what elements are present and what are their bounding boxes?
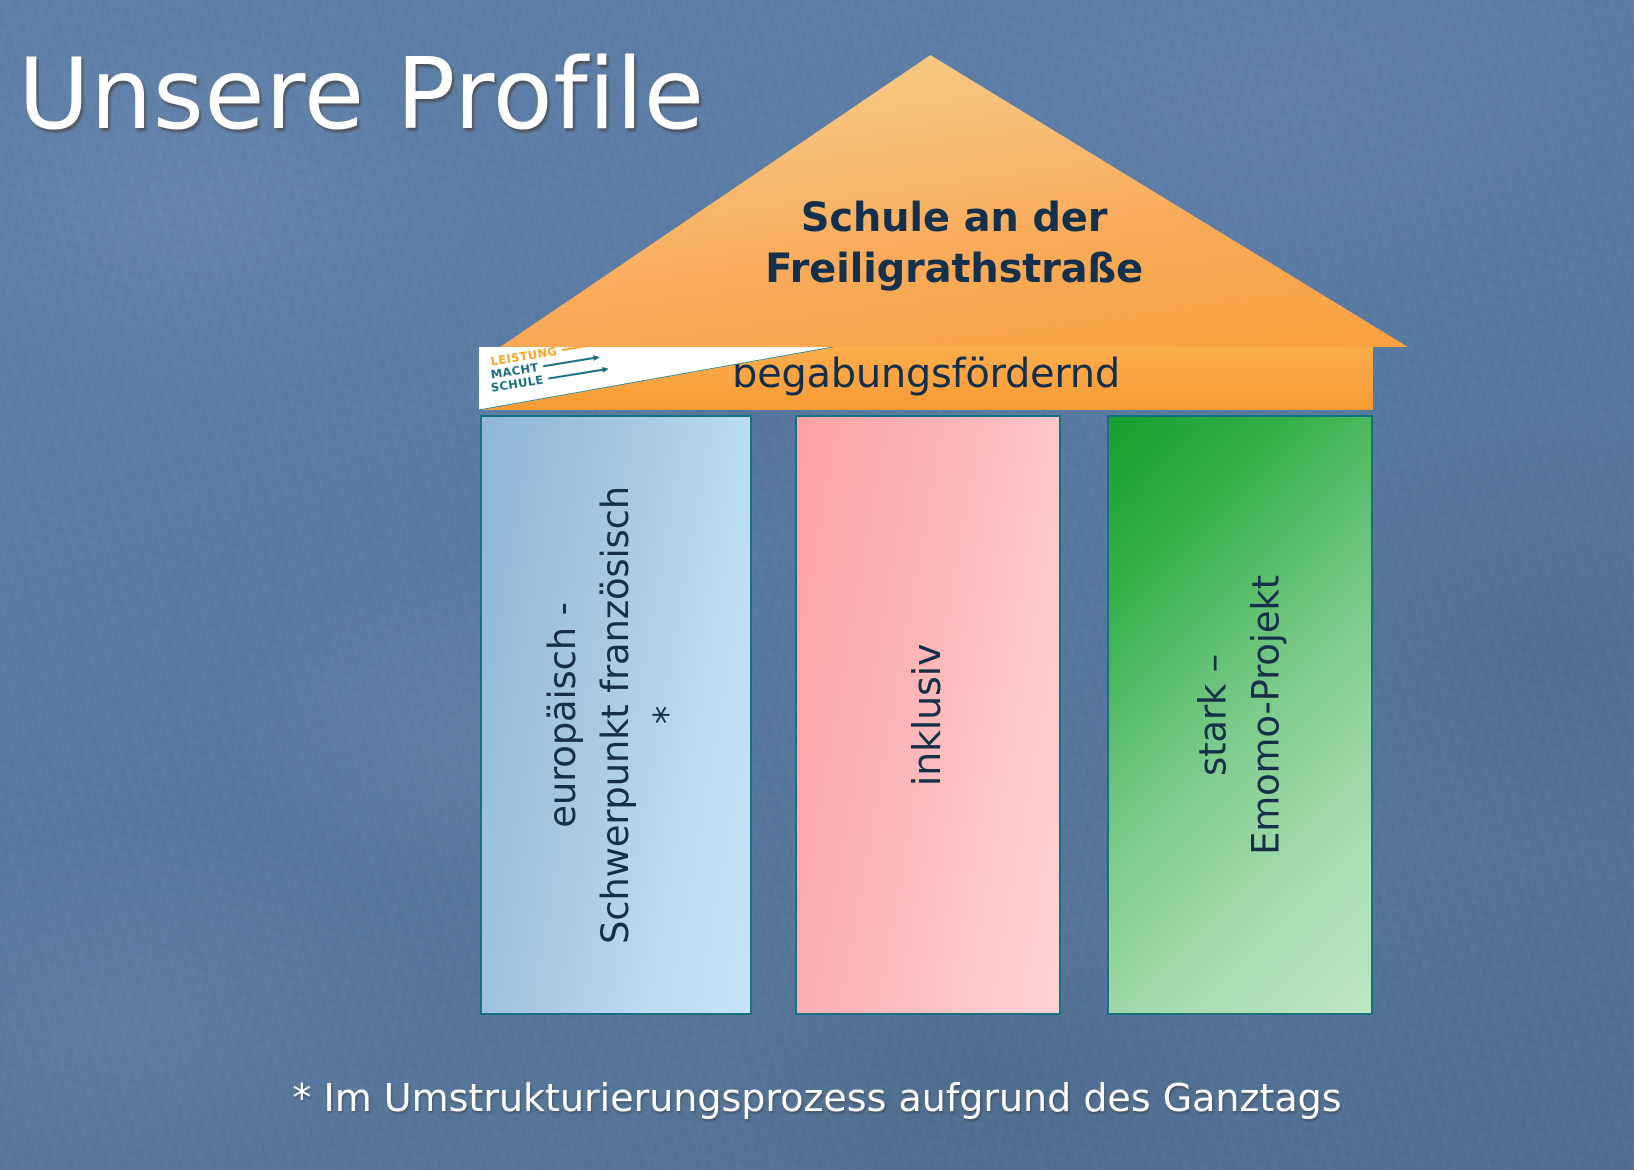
pillar-stark-label: stark – Emomo-Projekt	[1187, 575, 1292, 855]
house-roof-label-line1: Schule an der	[500, 193, 1408, 244]
pillar-europaeisch-footnote-marker: *	[642, 486, 695, 944]
pillar-stark-line1: stark –	[1187, 575, 1240, 855]
pillar-inklusiv-label: inklusiv	[901, 644, 955, 787]
pillar-inklusiv-line1: inklusiv	[901, 644, 955, 787]
pillar-inklusiv[interactable]: inklusiv	[795, 415, 1061, 1015]
house-roof-label: Schule an der Freiligrathstraße	[500, 193, 1408, 295]
house-roof-label-line2: Freiligrathstraße	[500, 244, 1408, 295]
pillar-europaeisch[interactable]: europäisch - Schwerpunkt französisch *	[480, 415, 752, 1015]
page-title: Unsere Profile	[18, 46, 705, 146]
pillar-stark[interactable]: stark – Emomo-Projekt	[1107, 415, 1373, 1015]
house-band: begabungsfördernd LEISTUNG MACHT SCHULE	[479, 347, 1373, 410]
pillar-stark-line2: Emomo-Projekt	[1240, 575, 1293, 855]
slide-canvas: Unsere Profile Schule an der Freiligrath…	[0, 0, 1634, 1170]
pillar-europaeisch-line2: Schwerpunkt französisch	[590, 486, 643, 944]
pillar-europaeisch-line1: europäisch -	[537, 486, 590, 944]
footnote: * Im Umstrukturierungsprozess aufgrund d…	[0, 1078, 1634, 1120]
pillar-europaeisch-label: europäisch - Schwerpunkt französisch *	[537, 486, 695, 944]
